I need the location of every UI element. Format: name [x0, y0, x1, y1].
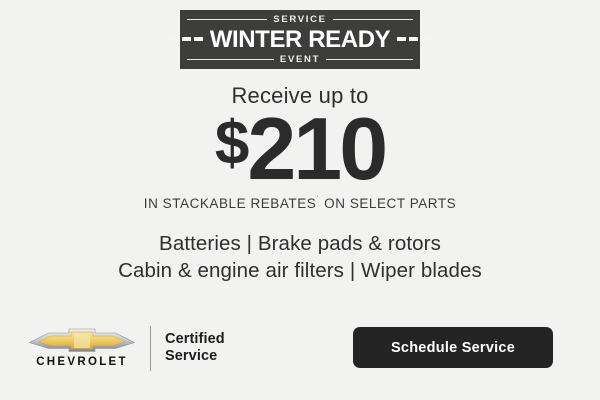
- parts-line-2: Cabin & engine air filters | Wiper blade…: [118, 257, 482, 284]
- brand-lockup: CHEVROLET Certified Service: [28, 326, 225, 371]
- event-banner: SERVICE WINTER READY EVENT: [180, 10, 420, 69]
- certified-service-label: Certified Service: [165, 331, 225, 366]
- disclaimer-tail: ON SELECT PARTS: [320, 196, 456, 211]
- banner-title-row: WINTER READY: [180, 26, 420, 54]
- brand-divider: [150, 326, 151, 371]
- banner-kicker-bottom: EVENT: [280, 55, 320, 65]
- parts-line-1: Batteries | Brake pads & rotors: [118, 230, 482, 257]
- chevrolet-wordmark: CHEVROLET: [36, 357, 128, 369]
- disclaimer-text: IN STACKABLE REBATES: [144, 196, 317, 211]
- banner-title: WINTER READY: [210, 27, 391, 52]
- banner-kicker-top-row: SERVICE: [180, 15, 420, 25]
- banner-kicker-bottom-row: EVENT: [180, 55, 420, 65]
- eligible-parts-list: Batteries | Brake pads & rotors Cabin & …: [118, 230, 482, 284]
- ad-footer: CHEVROLET Certified Service Schedule Ser…: [0, 323, 600, 373]
- banner-rule-left: [187, 19, 267, 20]
- amount-value: 210: [247, 113, 385, 185]
- banner-rule-right: [333, 19, 413, 20]
- offer-amount: $ 210: [215, 113, 385, 185]
- schedule-service-button[interactable]: Schedule Service: [353, 327, 553, 368]
- banner-dashes-right-icon: [397, 37, 430, 41]
- chevrolet-bowtie-icon: [28, 327, 136, 353]
- currency-symbol: $: [215, 119, 247, 170]
- offer-disclaimer: IN STACKABLE REBATES˙ ON SELECT PARTS: [144, 196, 456, 211]
- certified-line-1: Certified: [165, 331, 225, 348]
- banner-dashes-left-icon: [170, 37, 203, 41]
- banner-rule-left-2: [187, 59, 274, 60]
- certified-line-2: Service: [165, 348, 225, 365]
- banner-kicker-top: SERVICE: [273, 15, 326, 25]
- chevrolet-logo: CHEVROLET: [28, 327, 136, 369]
- winter-ready-service-ad: SERVICE WINTER READY EVENT Receive up to…: [0, 0, 600, 400]
- banner-rule-right-2: [326, 59, 413, 60]
